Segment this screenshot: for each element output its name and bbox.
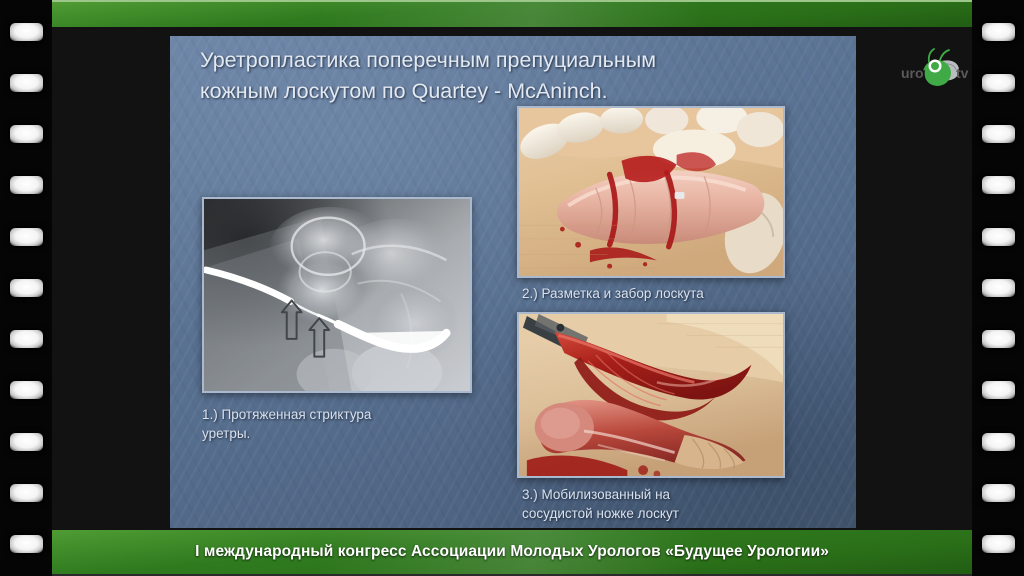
svg-text:uro: uro bbox=[901, 65, 924, 81]
caption-3-line-1: 3.) Мобилизованный на bbox=[522, 487, 670, 502]
figure-xray-urethrogram bbox=[202, 197, 472, 393]
film-sprocket-hole bbox=[982, 381, 1015, 399]
film-sprocket-hole bbox=[982, 484, 1015, 502]
figure-caption-2: 2.) Разметка и забор лоскута bbox=[522, 285, 784, 304]
film-strip-right bbox=[972, 0, 1024, 576]
slide-title-line-1: Уретропластика поперечным препуциальным bbox=[200, 48, 656, 72]
video-frame: Уретропластика поперечным препуциальным … bbox=[0, 0, 1024, 576]
figure-mobilized-flap-photo bbox=[517, 312, 785, 478]
film-sprocket-hole bbox=[982, 535, 1015, 553]
film-sprocket-hole bbox=[10, 74, 43, 92]
slide-title: Уретропластика поперечным препуциальным … bbox=[200, 45, 828, 106]
film-sprocket-hole bbox=[10, 176, 43, 194]
film-strip-left bbox=[0, 0, 52, 576]
film-sprocket-hole bbox=[10, 23, 43, 41]
film-sprocket-hole bbox=[982, 23, 1015, 41]
slide-title-line-2: кожным лоскутом по Quartey - McAninch. bbox=[200, 76, 828, 107]
film-sprocket-hole bbox=[10, 433, 43, 451]
film-sprocket-hole bbox=[10, 381, 43, 399]
figure-flap-markup-photo bbox=[517, 106, 785, 278]
film-sprocket-hole bbox=[982, 279, 1015, 297]
film-sprocket-hole bbox=[10, 125, 43, 143]
figure-caption-3: 3.) Мобилизованный на сосудистой ножке л… bbox=[522, 486, 788, 523]
urotv-logo-icon: uro tv bbox=[898, 46, 976, 92]
bottom-green-banner: I международный конгресс Ассоциации Моло… bbox=[52, 530, 972, 576]
presentation-slide: Уретропластика поперечным препуциальным … bbox=[170, 36, 856, 528]
xray-image bbox=[204, 199, 470, 392]
caption-1-line-1: 1.) Протяженная стриктура bbox=[202, 407, 371, 422]
film-sprocket-hole bbox=[982, 74, 1015, 92]
film-sprocket-hole bbox=[982, 176, 1015, 194]
film-sprocket-hole bbox=[982, 125, 1015, 143]
film-sprocket-hole bbox=[982, 228, 1015, 246]
intraoperative-photo-2 bbox=[519, 108, 783, 276]
film-sprocket-hole bbox=[982, 330, 1015, 348]
film-sprocket-hole bbox=[982, 433, 1015, 451]
congress-banner-text: I международный конгресс Ассоциации Моло… bbox=[52, 543, 972, 561]
film-sprocket-hole bbox=[10, 484, 43, 502]
intraoperative-photo-3 bbox=[519, 314, 783, 476]
svg-text:tv: tv bbox=[956, 65, 969, 81]
film-sprocket-hole bbox=[10, 330, 43, 348]
bar-sheen bbox=[52, 2, 972, 27]
caption-2-line-1: 2.) Разметка и забор лоскута bbox=[522, 286, 704, 301]
brand-logo[interactable]: uro tv bbox=[898, 46, 976, 92]
top-green-bar bbox=[52, 0, 972, 27]
caption-1-line-2: уретры. bbox=[202, 426, 250, 441]
film-sprocket-hole bbox=[10, 228, 43, 246]
film-sprocket-hole bbox=[10, 535, 43, 553]
figure-caption-1: 1.) Протяженная стриктура уретры. bbox=[202, 406, 452, 443]
caption-3-line-2: сосудистой ножке лоскут bbox=[522, 506, 679, 521]
film-sprocket-hole bbox=[10, 279, 43, 297]
